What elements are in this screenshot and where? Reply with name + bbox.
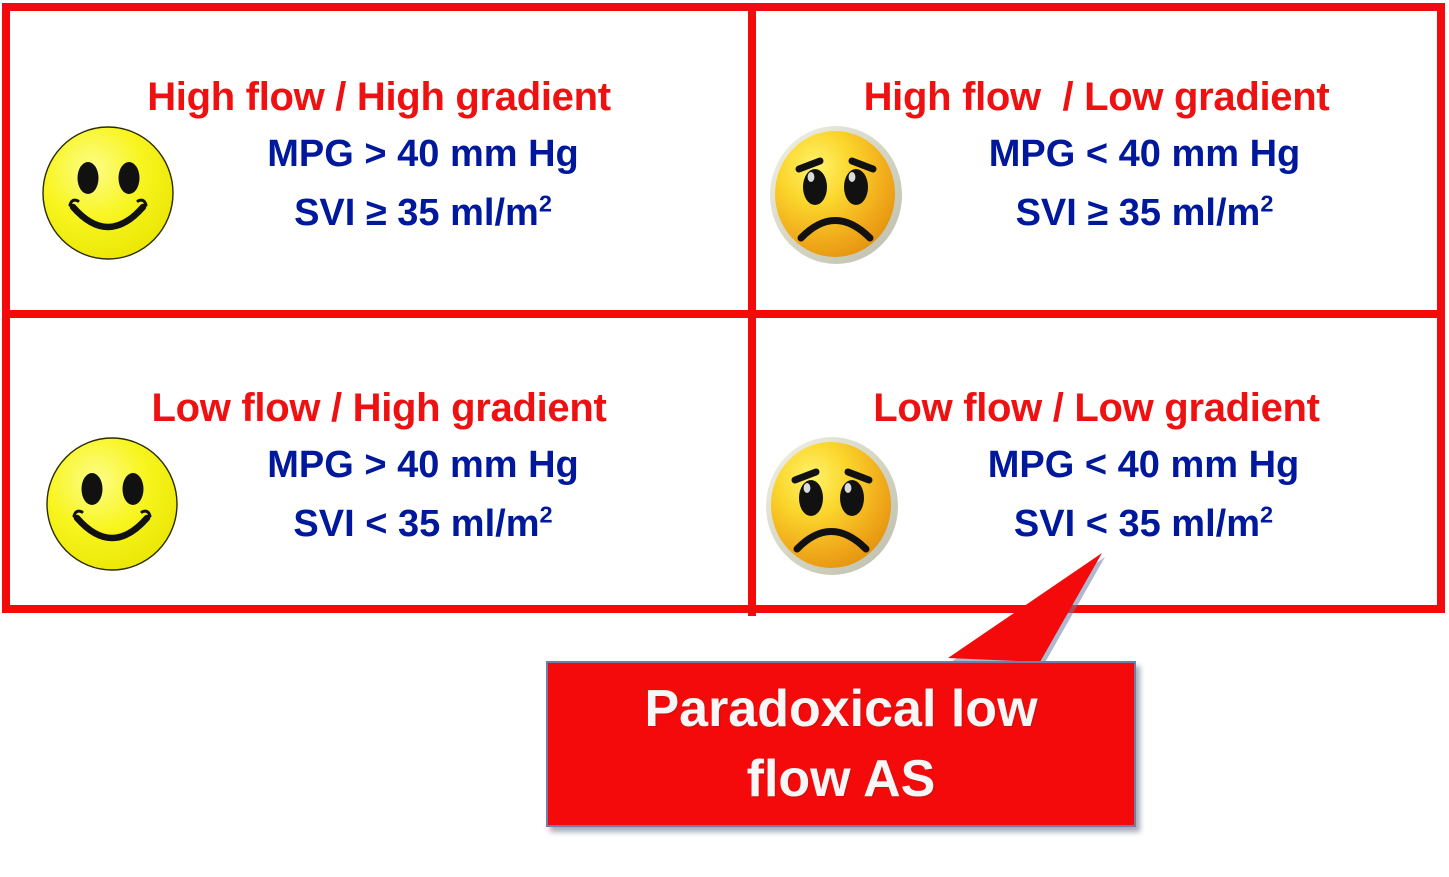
- criteria-svi-exponent: 2: [539, 501, 552, 527]
- quadrant-title: High flow / Low gradient: [756, 11, 1437, 117]
- quadrant-body: MPG > 40 mm Hg SVI ≥ 35 ml/m2: [10, 125, 748, 261]
- criteria-svi-text: SVI ≥ 35 ml/m: [294, 192, 539, 234]
- quadrant-low-flow-low-gradient: Low flow / Low gradient: [756, 318, 1437, 608]
- quadrant-body: MPG < 40 mm Hg SVI < 35 ml/m2: [756, 436, 1437, 576]
- criteria-svi-text: SVI < 35 ml/m: [293, 503, 539, 545]
- criteria-line-mpg: MPG > 40 mm Hg: [186, 125, 660, 184]
- callout-line-2: flow AS: [644, 744, 1037, 814]
- quadrant-title: High flow / High gradient: [10, 11, 748, 117]
- criteria-svi-text: SVI < 35 ml/m: [1014, 503, 1260, 545]
- quadrant-low-flow-high-gradient: Low flow / High gradient MPG: [10, 318, 748, 608]
- criteria-line-mpg: MPG < 40 mm Hg: [916, 125, 1373, 184]
- criteria-svi-exponent: 2: [1260, 501, 1273, 527]
- matrix-horizontal-divider: [2, 310, 1445, 318]
- criteria-line-svi: SVI < 35 ml/m2: [186, 495, 660, 554]
- criteria-line-mpg: MPG < 40 mm Hg: [914, 436, 1373, 495]
- quadrant-title: Low flow / High gradient: [10, 318, 748, 428]
- quadrant-criteria: MPG > 40 mm Hg SVI ≥ 35 ml/m2: [186, 125, 660, 243]
- quadrant-body: MPG < 40 mm Hg SVI ≥ 35 ml/m2: [756, 125, 1437, 265]
- quadrant-criteria: MPG < 40 mm Hg SVI ≥ 35 ml/m2: [916, 125, 1373, 243]
- criteria-svi-exponent: 2: [539, 190, 552, 216]
- quadrant-body: MPG > 40 mm Hg SVI < 35 ml/m2: [10, 436, 748, 572]
- quadrant-high-flow-high-gradient: High flow / High gradient MPG: [10, 11, 748, 310]
- criteria-svi-text: SVI ≥ 35 ml/m: [1016, 192, 1261, 234]
- sad-face-icon: [768, 125, 904, 265]
- quadrant-criteria: MPG > 40 mm Hg SVI < 35 ml/m2: [186, 436, 660, 554]
- criteria-line-svi: SVI ≥ 35 ml/m2: [186, 184, 660, 243]
- criteria-line-mpg: MPG > 40 mm Hg: [186, 436, 660, 495]
- happy-face-icon: [40, 125, 176, 261]
- criteria-line-svi: SVI ≥ 35 ml/m2: [916, 184, 1373, 243]
- happy-face-icon: [44, 436, 180, 572]
- callout-line-1: Paradoxical low: [644, 674, 1037, 744]
- criteria-line-svi: SVI < 35 ml/m2: [914, 495, 1373, 554]
- paradoxical-low-flow-callout: Paradoxical low flow AS: [546, 661, 1136, 827]
- quadrant-title: Low flow / Low gradient: [756, 318, 1437, 428]
- quadrant-criteria: MPG < 40 mm Hg SVI < 35 ml/m2: [914, 436, 1373, 554]
- callout-text: Paradoxical low flow AS: [644, 674, 1037, 814]
- criteria-svi-exponent: 2: [1260, 190, 1273, 216]
- quadrant-high-flow-low-gradient: High flow / Low gradient: [756, 11, 1437, 310]
- sad-face-icon: [764, 436, 900, 576]
